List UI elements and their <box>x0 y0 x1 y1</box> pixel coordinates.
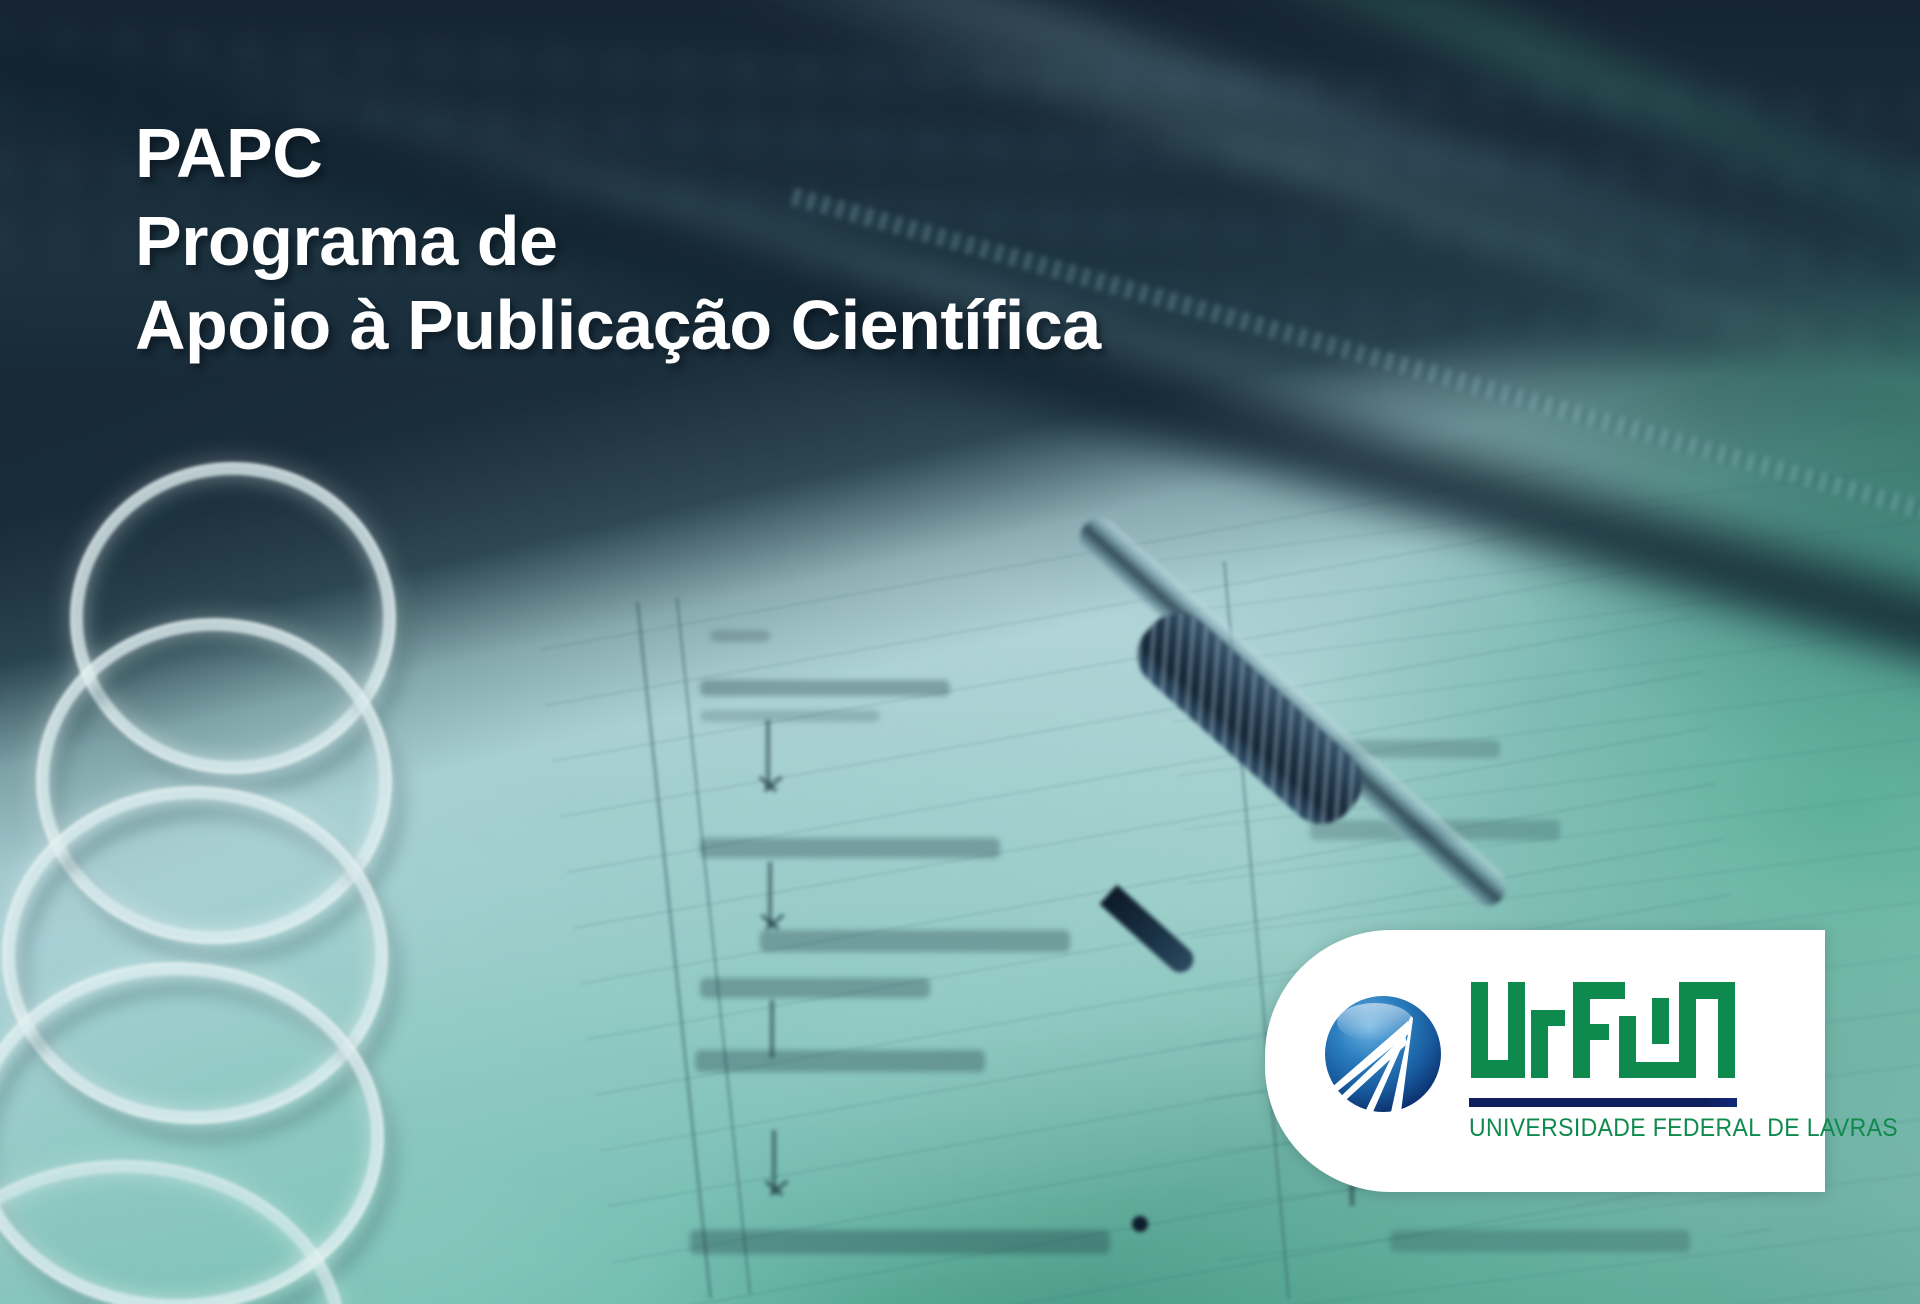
headline-line-3: Apoio à Publicação Científica <box>135 290 1101 360</box>
headline-line-2: Programa de <box>135 206 1101 276</box>
banner-headline: PAPC Programa de Apoio à Publicação Cien… <box>135 118 1101 360</box>
ufla-subtitle: UNIVERSIDADE FEDERAL DE LAVRAS <box>1469 1114 1898 1143</box>
pen-point <box>1132 1216 1148 1232</box>
spiral-binder <box>0 400 590 1304</box>
ufla-wordmark <box>1469 980 1737 1096</box>
ufla-logo-card: UNIVERSIDADE FEDERAL DE LAVRAS <box>1265 930 1825 1192</box>
ufla-divider-bar <box>1469 1098 1737 1107</box>
papc-banner: PAPC Programa de Apoio à Publicação Cien… <box>0 0 1920 1304</box>
ufla-globe-icon <box>1313 988 1453 1128</box>
headline-line-1: PAPC <box>135 118 1101 188</box>
